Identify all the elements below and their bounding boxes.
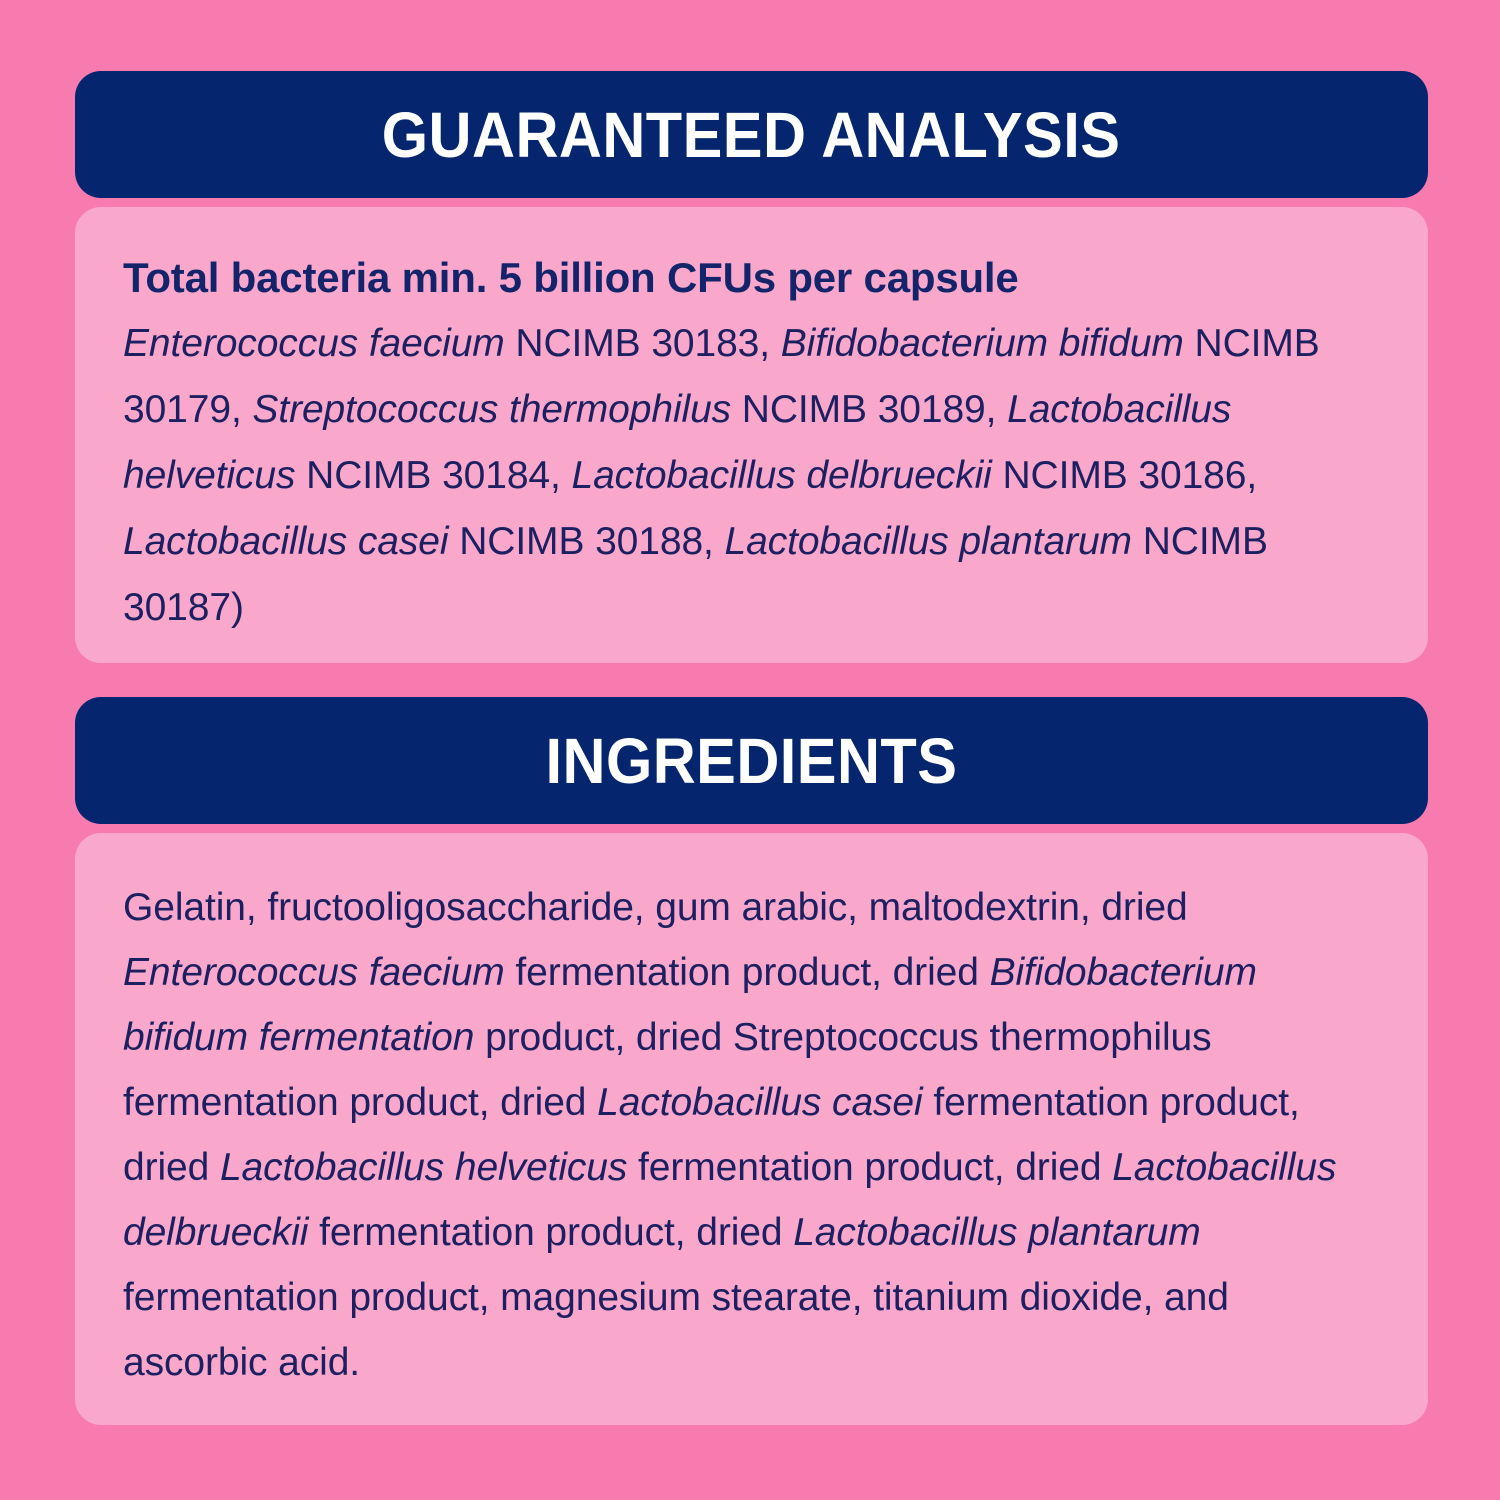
guaranteed-analysis-body: Total bacteria min. 5 billion CFUs per c… bbox=[75, 207, 1428, 663]
ingredients-body: Gelatin, fructooligosaccharide, gum arab… bbox=[75, 833, 1428, 1425]
ingredients-header-bar: INGREDIENTS bbox=[75, 697, 1428, 824]
supplement-label-panel: GUARANTEED ANALYSIS Total bacteria min. … bbox=[0, 0, 1500, 1500]
guaranteed-analysis-strain-list: Enterococcus faecium NCIMB 30183, Bifido… bbox=[123, 311, 1380, 641]
guaranteed-analysis-title: GUARANTEED ANALYSIS bbox=[382, 103, 1121, 167]
guaranteed-analysis-header-bar: GUARANTEED ANALYSIS bbox=[75, 71, 1428, 198]
ingredients-title: INGREDIENTS bbox=[546, 729, 958, 793]
ingredients-list-text: Gelatin, fructooligosaccharide, gum arab… bbox=[123, 875, 1380, 1395]
total-bacteria-heading: Total bacteria min. 5 billion CFUs per c… bbox=[123, 245, 1380, 311]
